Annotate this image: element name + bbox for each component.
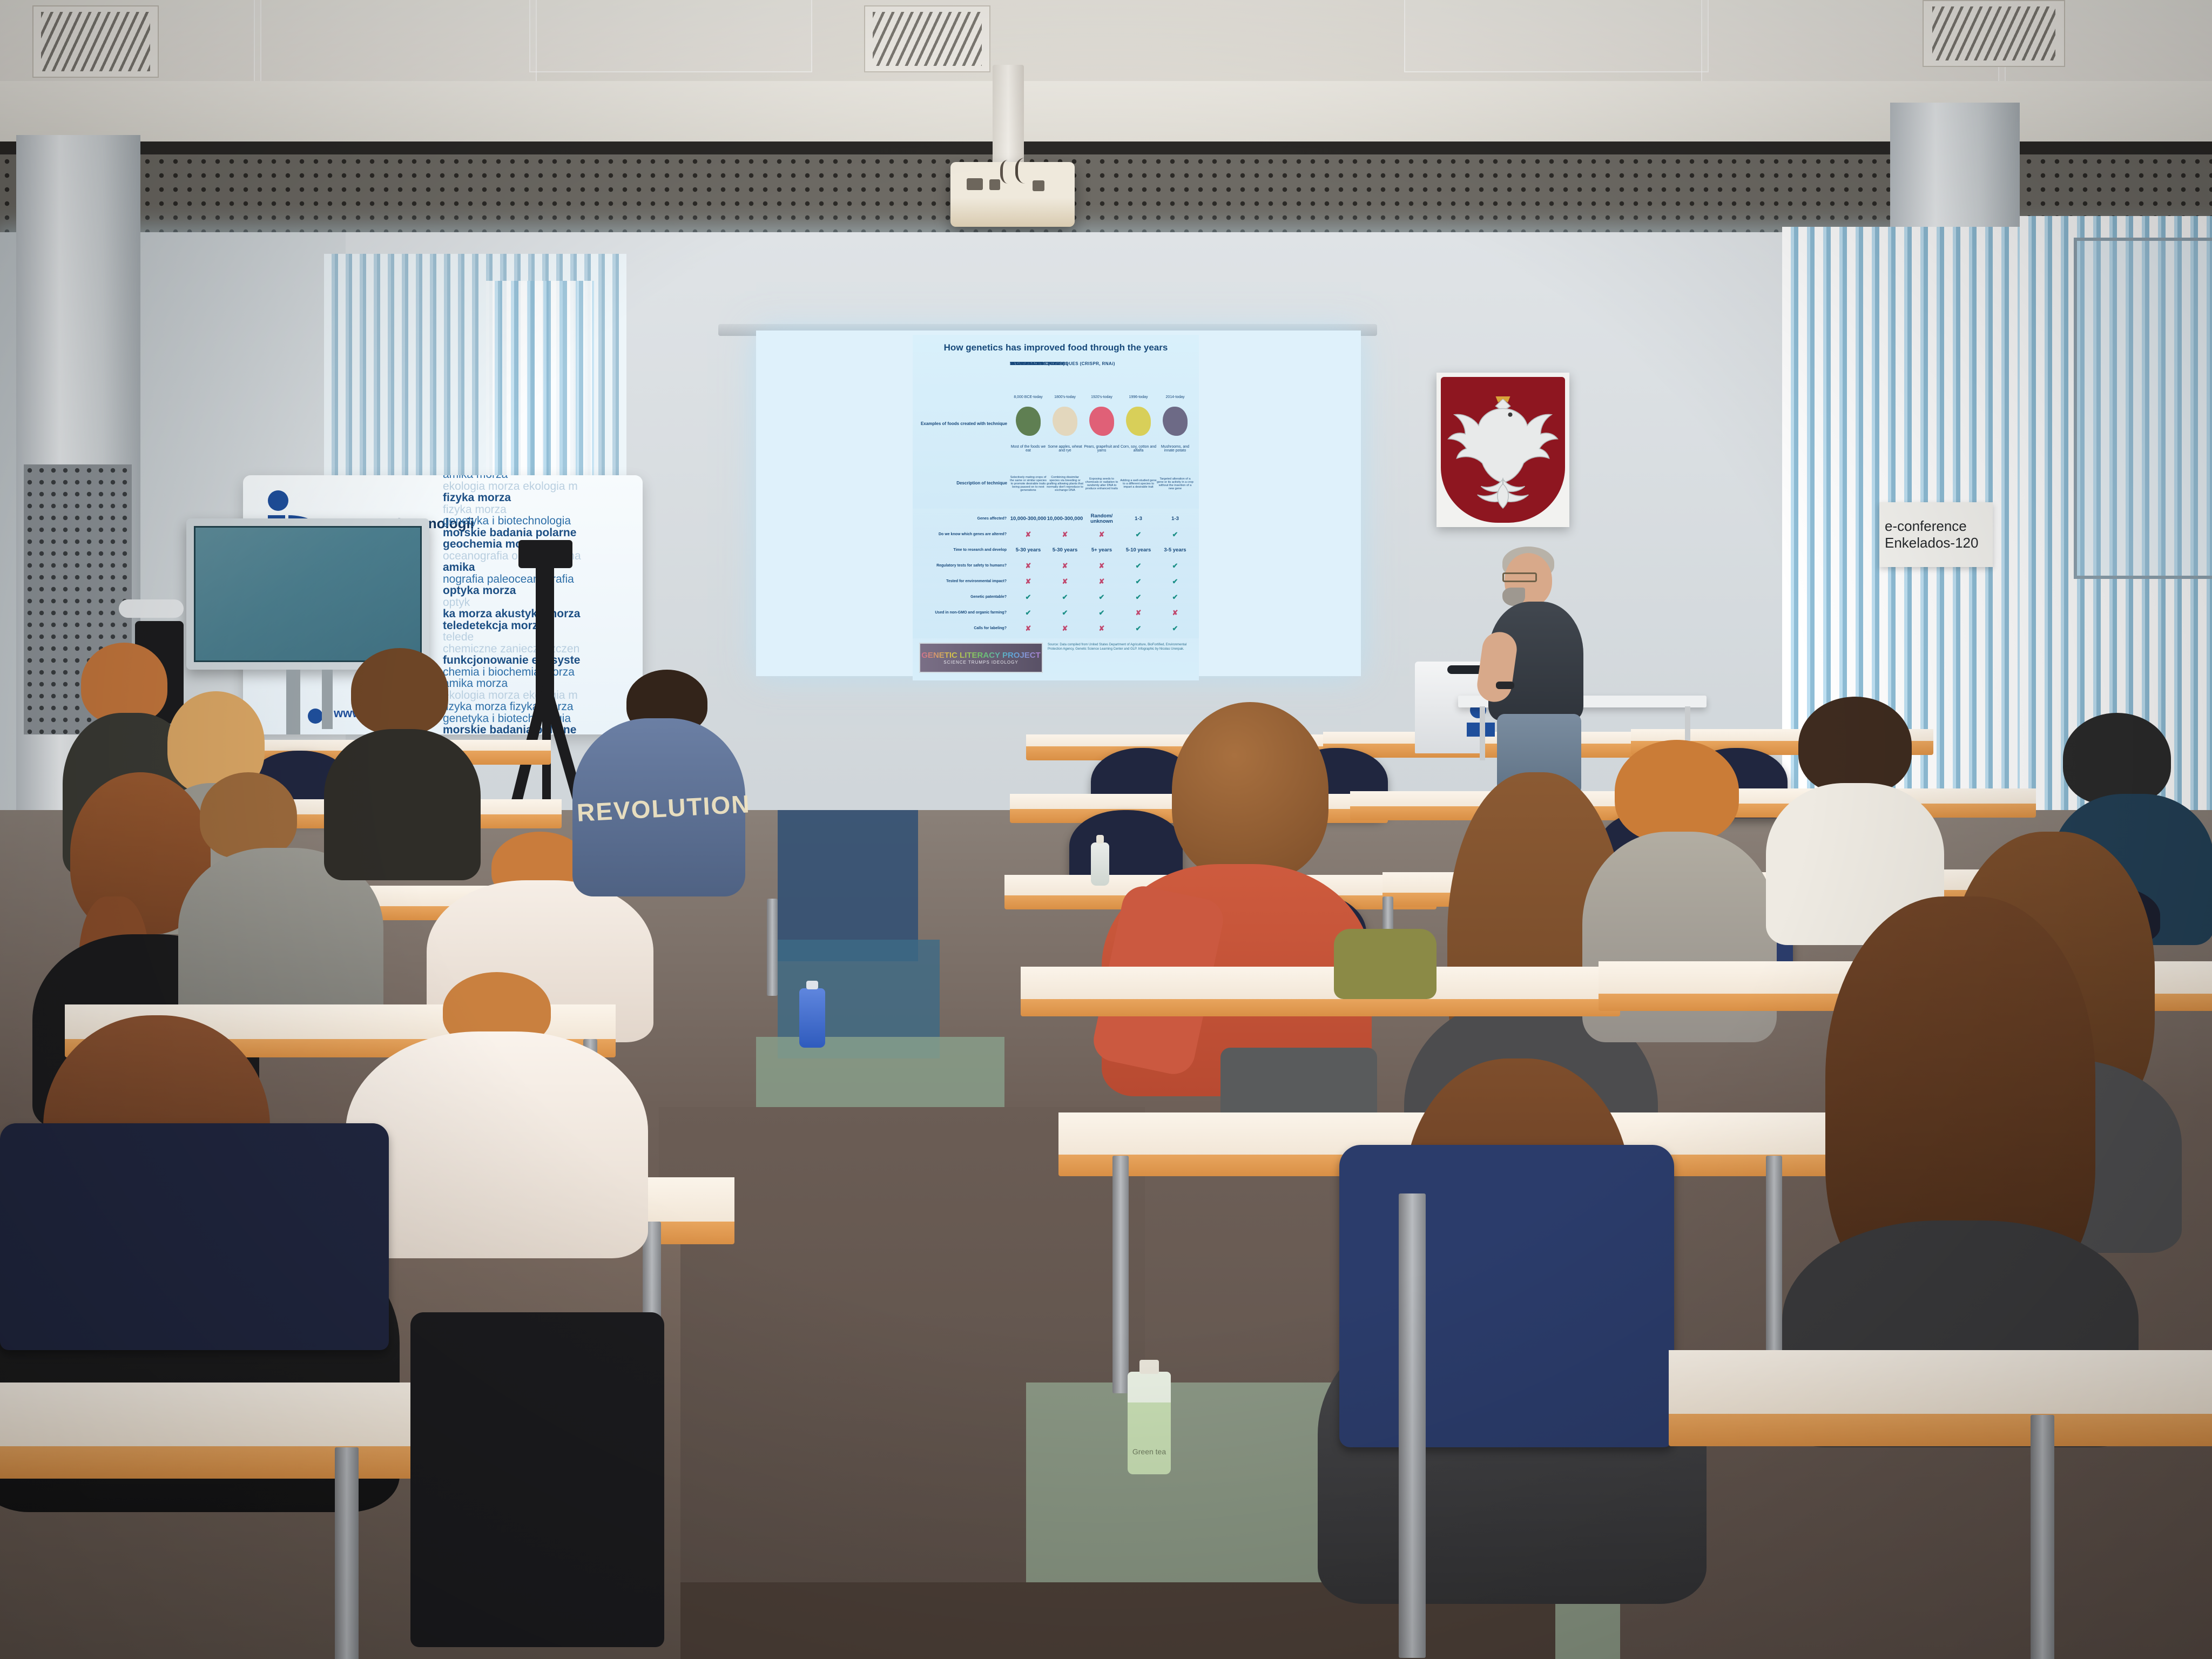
slide-row-label: Tested for environmental impact? xyxy=(918,579,1010,583)
slide-row-label: Genetic patentable? xyxy=(918,595,1010,599)
hair xyxy=(1615,740,1739,842)
slide-food-cell-4 xyxy=(1157,403,1193,440)
slide-row-label: Calls for labeling? xyxy=(918,626,1010,630)
torso xyxy=(346,1031,648,1258)
corn-icon xyxy=(1126,407,1151,436)
slide-period-1: 1800's-today xyxy=(1047,393,1083,402)
hair xyxy=(1172,702,1328,880)
slide-value: 5-10 years xyxy=(1120,548,1157,553)
student-revolution-hoodie: REVOLUTION xyxy=(572,670,745,896)
camera-tripod-head xyxy=(518,540,572,568)
student-foreground-cream-hoodie xyxy=(346,972,648,1253)
ceiling-tile xyxy=(254,0,537,83)
door-sign-line1: e-conference xyxy=(1885,518,1993,535)
slide-period-3: 1996-today xyxy=(1120,393,1157,402)
slide-period-2: 1920's-today xyxy=(1083,393,1120,402)
check-icon: ✔ xyxy=(1120,625,1157,632)
slide-row: Time to research and develop5-30 years5-… xyxy=(918,542,1193,558)
wheat-icon xyxy=(1053,407,1077,436)
cross-icon: ✘ xyxy=(1047,562,1083,570)
slide-description-1: Combining dissimilar species via breedin… xyxy=(1047,460,1083,509)
bottle-cap xyxy=(806,981,818,989)
window-frame xyxy=(2074,238,2212,579)
door-sign: e-conference Enkelados-120 xyxy=(1879,502,1993,567)
check-icon: ✔ xyxy=(1010,609,1047,617)
slide-value: 5-30 years xyxy=(1010,548,1047,553)
slide-row: Calls for labeling?✘✘✘✔✔ xyxy=(918,621,1193,636)
slide-data-rows: Genes affected?10,000-300,00010,000-300,… xyxy=(918,511,1193,636)
desk-leg xyxy=(767,899,778,996)
slide-food-cell-1 xyxy=(1047,403,1083,440)
ceiling-tile xyxy=(1404,0,1709,72)
slide-row: Tested for environmental impact?✘✘✘✔✔ xyxy=(918,574,1193,589)
chair-foreground-blue[interactable] xyxy=(1339,1145,1674,1447)
presenter-glasses-icon xyxy=(1502,572,1537,582)
ceiling-soffit xyxy=(0,81,2212,146)
desk-leg xyxy=(2031,1415,2054,1659)
check-icon: ✔ xyxy=(1083,594,1120,601)
cross-icon: ✘ xyxy=(1010,625,1047,632)
hair xyxy=(2063,713,2171,805)
bottle-cap xyxy=(1139,1360,1158,1374)
slide-food-cell-2 xyxy=(1083,403,1120,440)
slide-row: Genetic patentable?✔✔✔✔✔ xyxy=(918,589,1193,605)
slide-value: 10,000-300,000 xyxy=(1047,516,1083,522)
slide-example-3: Corn, soy, cotton and alfalfa xyxy=(1120,441,1157,457)
glp-tagline: SCIENCE TRUMPS IDEOLOGY xyxy=(943,660,1018,665)
slide-title: How genetics has improved food through t… xyxy=(913,342,1199,353)
cross-icon: ✘ xyxy=(1010,578,1047,585)
slide-description-row: Selectively mating crops of the same or … xyxy=(1010,460,1193,509)
student-curly-orange-sweater xyxy=(1091,702,1372,1112)
ceiling-vent xyxy=(32,5,159,78)
slide-period-4: 2014-today xyxy=(1157,393,1193,402)
genetic-literacy-project-logo: GENETIC LITERACY PROJECT SCIENCE TRUMPS … xyxy=(919,643,1043,673)
slide-example-0: Most of the foods we eat xyxy=(1010,441,1047,457)
banner-keyword-line: fizyka morza xyxy=(443,504,643,516)
chair-post xyxy=(1399,1193,1426,1658)
cross-icon: ✘ xyxy=(1047,578,1083,585)
projector-port xyxy=(967,178,983,190)
slide-header-4: NEW BREEDING TECHNIQUES (CRISPR, RNAi) xyxy=(1010,362,1115,366)
backpack-olive[interactable] xyxy=(1334,929,1437,999)
slide-food-icons xyxy=(1010,403,1193,440)
slide-row-label: Time to research and develop xyxy=(918,548,1010,552)
banner-keyword-line: morskie badania polarne xyxy=(443,527,643,539)
slide-row-label: Genes affected? xyxy=(918,517,1010,521)
check-icon: ✔ xyxy=(1120,578,1157,585)
slide-food-cell-3 xyxy=(1120,403,1157,440)
glp-name: GENETIC LITERACY PROJECT xyxy=(921,651,1041,660)
slide-row: Genes affected?10,000-300,00010,000-300,… xyxy=(918,511,1193,527)
check-icon: ✔ xyxy=(1120,562,1157,570)
slide-example-4: Mushrooms, and innate potato xyxy=(1157,441,1193,457)
slide-examples-row: Most of the foods we eatSome apples, whe… xyxy=(1010,441,1193,457)
check-icon: ✔ xyxy=(1120,531,1157,538)
carpet-strip-blue xyxy=(778,810,918,961)
presenter-watch xyxy=(1496,682,1514,689)
slide-period-0: 8,000 BCE-today xyxy=(1010,393,1047,402)
slide-description-4: Targeted alteration of a gene or its act… xyxy=(1157,460,1193,509)
check-icon: ✔ xyxy=(1157,578,1193,585)
lecture-hall-photo: e-conference Enkelados-120 How genetics … xyxy=(0,0,2212,1659)
slide-description-2: Exposing seeds to chemicals or radiation… xyxy=(1083,460,1120,509)
slide-value: 1-3 xyxy=(1120,516,1157,522)
slide: How genetics has improved food through t… xyxy=(913,335,1199,680)
broccoli-icon xyxy=(1016,407,1041,436)
slide-value: 5-30 years xyxy=(1047,548,1083,553)
slide-example-1: Some apples, wheat and rye xyxy=(1047,441,1083,457)
slide-row: Used in non-GMO and organic farming?✔✔✔✘… xyxy=(918,605,1193,621)
check-icon: ✔ xyxy=(1157,625,1193,632)
iopan-logo-circle-bottom xyxy=(308,709,323,724)
slide-value: 3-5 years xyxy=(1157,548,1193,553)
slide-row-label: Regulatory tests for safety to humans? xyxy=(918,564,1010,568)
projector-port xyxy=(989,179,1000,190)
polish-coat-of-arms xyxy=(1437,373,1569,527)
mushroom-icon xyxy=(1163,407,1188,436)
ceiling-vent xyxy=(864,5,990,72)
cross-icon: ✘ xyxy=(1010,562,1047,570)
green-tea-bottle[interactable]: Green tea xyxy=(1128,1372,1171,1474)
slide-value: 1-3 xyxy=(1157,516,1193,522)
projector-cable xyxy=(1000,160,1019,184)
water-bottle-blue[interactable] xyxy=(799,988,825,1048)
check-icon: ✔ xyxy=(1010,594,1047,601)
cross-icon: ✘ xyxy=(1157,609,1193,617)
cross-icon: ✘ xyxy=(1083,625,1120,632)
hair xyxy=(200,772,297,859)
desk-leg xyxy=(1112,1156,1129,1393)
iopan-logo-circle xyxy=(268,490,288,511)
desk-foreground-left xyxy=(0,1382,475,1453)
door-sign-line2: Enkelados-120 xyxy=(1885,535,1993,551)
chair-foreground-dark[interactable] xyxy=(0,1123,389,1350)
emblem-shield xyxy=(1441,377,1565,523)
slide-period-row: 8,000 BCE-today1800's-today1920's-today1… xyxy=(1010,393,1193,402)
banner-keyword-line: genetyka i biotechnologia xyxy=(443,515,643,527)
slide-row-label: Do we know which genes are altered? xyxy=(918,532,1010,536)
check-icon: ✔ xyxy=(1157,594,1193,601)
backpack-black[interactable] xyxy=(410,1312,664,1647)
perforated-ceiling-band xyxy=(0,154,2212,235)
hair xyxy=(1798,697,1912,794)
check-icon: ✔ xyxy=(1047,594,1083,601)
camera-stand-arm xyxy=(119,599,184,618)
check-icon: ✔ xyxy=(1157,531,1193,538)
desk-row-1-right xyxy=(1021,967,1620,1002)
desk-foreground-right xyxy=(1669,1350,2212,1420)
slide-row: Regulatory tests for safety to humans?✘✘… xyxy=(918,558,1193,574)
ceiling-vent xyxy=(1923,0,2065,67)
banner-keyword-line: fizyka morza xyxy=(443,492,643,504)
slide-row-label: Used in non-GMO and organic farming? xyxy=(918,611,1010,615)
slide-examples-label: Examples of foods created with technique xyxy=(918,408,1010,440)
slide-food-cell-0 xyxy=(1010,403,1047,440)
slide-column-headers: SELECTIVE BREEDINGINTERSPECIES CROSSESMU… xyxy=(1010,362,1193,391)
cross-icon: ✘ xyxy=(1047,625,1083,632)
slide-row: Do we know which genes are altered?✘✘✘✔✔ xyxy=(918,527,1193,542)
slide-example-2: Pears, grapefruit and yams xyxy=(1083,441,1120,457)
check-icon: ✔ xyxy=(1047,609,1083,617)
slide-value: Random/ unknown xyxy=(1083,514,1120,524)
cross-icon: ✘ xyxy=(1120,609,1157,617)
ceiling-shadow-gap xyxy=(0,141,2212,156)
check-icon: ✔ xyxy=(1083,609,1120,617)
cross-icon: ✘ xyxy=(1083,562,1120,570)
ceiling-tile xyxy=(529,0,812,72)
hair xyxy=(351,648,448,734)
green-tea-label: Green tea xyxy=(1130,1447,1169,1456)
cross-icon: ✘ xyxy=(1010,531,1047,538)
banner-keyword-line: ekologia morza ekologia m xyxy=(443,481,643,493)
cross-icon: ✘ xyxy=(1083,578,1120,585)
slide-source-note: Source: Data compiled from United States… xyxy=(1048,643,1191,651)
check-icon: ✔ xyxy=(1157,562,1193,570)
cross-icon: ✘ xyxy=(1047,531,1083,538)
cross-icon: ✘ xyxy=(1083,531,1120,538)
slide-value: 10,000-300,000 xyxy=(1010,516,1047,522)
wall-monitor xyxy=(186,518,429,670)
slide-description-label: Description of technique xyxy=(918,473,1010,494)
grapefruit-icon xyxy=(1089,407,1114,436)
slide-value: 5+ years xyxy=(1083,548,1120,553)
slide-description-3: Adding a well-studied gene to a differen… xyxy=(1120,460,1157,509)
eagle-icon xyxy=(1441,377,1565,523)
desk-leg xyxy=(335,1447,359,1659)
student-foreground-far-right xyxy=(1761,821,2139,1437)
check-icon: ✔ xyxy=(1120,594,1157,601)
slide-description-0: Selectively mating crops of the same or … xyxy=(1010,460,1047,509)
